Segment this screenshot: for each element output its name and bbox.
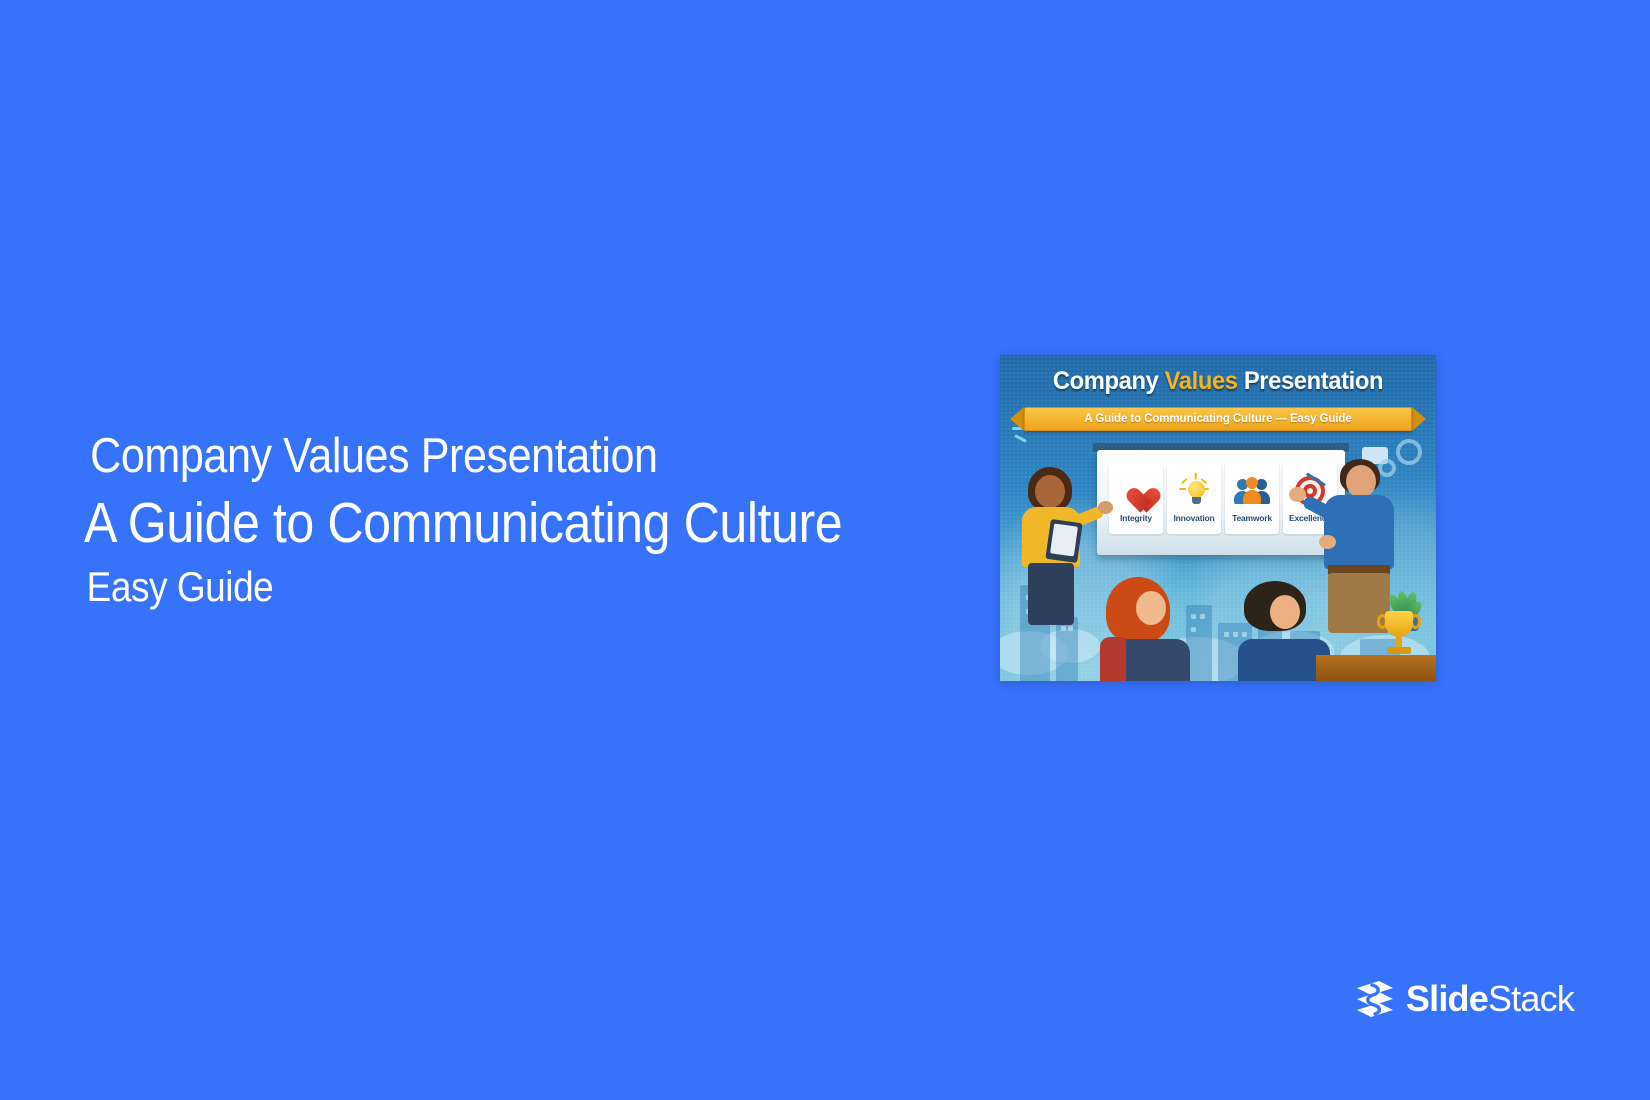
thumbnail-title: Company Values Presentation (1011, 367, 1425, 396)
page-title: Company Values Presentation A Guide to C… (84, 424, 1024, 616)
slidestack-logo[interactable]: SlideStack (1353, 978, 1574, 1020)
logo-wordmark: SlideStack (1406, 978, 1574, 1020)
thumbnail-title-part-2: Presentation (1238, 367, 1384, 395)
headline-line-2: A Guide to Communicating Culture (84, 488, 911, 558)
people-group-icon (1234, 471, 1270, 511)
seated-woman-red-hair-figure (1104, 577, 1196, 681)
value-card-label: Teamwork (1232, 513, 1272, 523)
value-card-label: Innovation (1174, 513, 1215, 523)
logo-name-light: Stack (1488, 978, 1574, 1019)
value-card-label: Integrity (1120, 513, 1152, 523)
stacked-s-layers-icon (1353, 979, 1397, 1019)
headline-line-1: Company Values Presentation (84, 424, 911, 488)
headline-line-3: Easy Guide (84, 558, 911, 616)
ribbon-tail-left (1010, 407, 1024, 431)
thumbnail-title-highlight: Values (1165, 367, 1238, 395)
value-card-integrity: Integrity (1109, 464, 1163, 534)
value-card-teamwork: Teamwork (1225, 464, 1279, 534)
woman-presenter-figure (1018, 467, 1104, 627)
logo-name-bold: Slide (1406, 978, 1488, 1019)
value-card-innovation: Innovation (1167, 464, 1221, 534)
lightbulb-icon (1179, 471, 1209, 511)
heart-icon (1121, 471, 1151, 511)
thumbnail-subtitle-ribbon: A Guide to Communicating Culture — Easy … (1024, 407, 1412, 431)
article-thumbnail-image: Company Values Presentation A Guide to C… (1000, 355, 1436, 681)
ribbon-tail-right (1412, 407, 1426, 431)
thumbnail-title-part-1: Company (1053, 367, 1165, 395)
gold-trophy (1378, 611, 1420, 663)
thumbnail-subtitle: A Guide to Communicating Culture — Easy … (1084, 413, 1351, 425)
